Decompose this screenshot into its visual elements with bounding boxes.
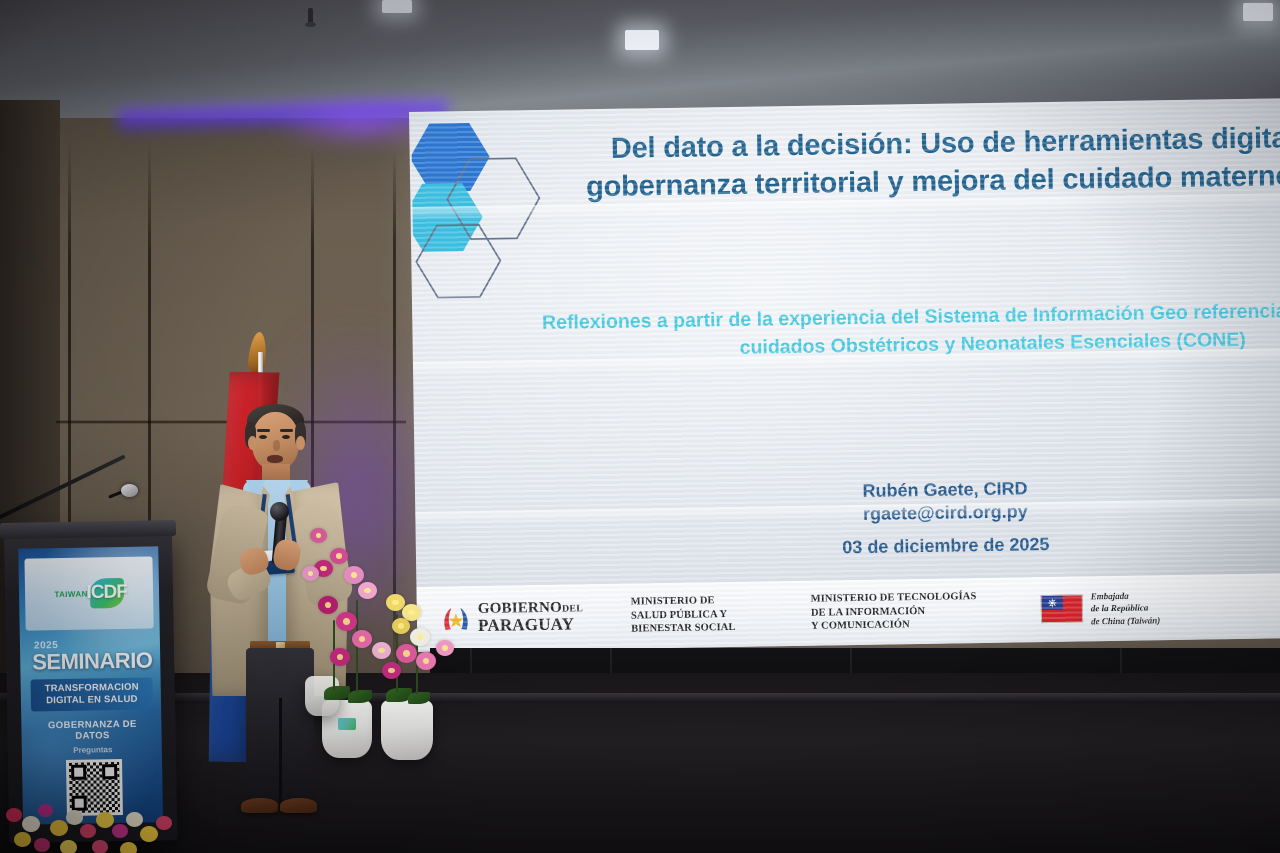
emb-line-2: de la República: [1091, 602, 1160, 615]
slide-date: 03 de diciembre de 2025: [666, 531, 1226, 561]
qr-finder: [71, 765, 86, 780]
ceiling-light: [625, 30, 659, 50]
flower: [80, 824, 96, 838]
ear: [296, 436, 305, 450]
icdf-taiwan-label: TAIWAN: [54, 589, 88, 599]
paraguay-government-emblem-icon: [441, 604, 471, 634]
flower: [96, 812, 114, 828]
orchid-bloom: [330, 548, 348, 564]
gov-line1-small: DEL: [562, 604, 583, 615]
eye: [259, 435, 267, 439]
projection-screen: Del dato a la decisión: Uso de herramien…: [409, 98, 1280, 652]
orchid-bloom: [330, 648, 350, 666]
orchid-leaf: [324, 686, 350, 700]
mitic-line-1: MINISTERIO DE TECNOLOGÍAS: [811, 590, 977, 606]
orchid-bloom: [436, 640, 454, 656]
qr-finder: [102, 764, 117, 779]
flower: [50, 820, 68, 836]
mouth: [267, 455, 283, 463]
flower: [92, 840, 108, 853]
trouser-seam: [279, 698, 282, 806]
flower: [156, 816, 172, 830]
eyebrow: [257, 429, 270, 432]
gobierno-paraguay-text: GOBIERNODEL PARAGUAY: [478, 601, 584, 635]
logo-embajada-taiwan: Embajada de la República de China (Taiwá…: [1041, 589, 1222, 628]
stage-edge: [0, 693, 1280, 703]
slide-author-block: Rubén Gaete, CIRD rgaete@cird.org.py: [665, 474, 1226, 529]
flower: [60, 840, 77, 853]
orchid-bloom: [392, 618, 410, 634]
flower: [126, 812, 143, 827]
orchid-leaf: [348, 690, 372, 703]
slide-title: Del dato a la decisión: Uso de herramien…: [539, 118, 1280, 208]
ceiling-light: [382, 0, 412, 13]
banner-seminar-title: SEMINARIO: [32, 647, 153, 675]
taiwan-flag-icon: [1041, 595, 1083, 624]
ministerio-salud-text: MINISTERIO DE SALUD PÚBLICA Y BIENESTAR …: [631, 594, 736, 636]
conference-photo-scene: Del dato a la decisión: Uso de herramien…: [0, 0, 1280, 853]
emb-line-3: de China (Taiwán): [1091, 614, 1160, 627]
emb-line-1: Embajada: [1091, 590, 1160, 603]
banner-tagline-line2: DIGITAL EN SALUD: [33, 693, 151, 707]
banner-tagline: TRANSFORMACION DIGITAL EN SALUD: [31, 677, 154, 711]
flower: [34, 838, 50, 852]
orchid-bloom: [382, 662, 401, 679]
flower: [14, 832, 31, 847]
flower: [38, 804, 53, 817]
icdf-wordmark: ICDF: [86, 581, 127, 604]
ear: [248, 436, 257, 450]
embajada-taiwan-text: Embajada de la República de China (Taiwá…: [1091, 590, 1161, 627]
mitic-line-3: Y COMUNICACIÓN: [811, 617, 977, 633]
icdf-logo: TAIWAN ICDF: [24, 556, 153, 630]
msp-line-3: BIENESTAR SOCIAL: [631, 621, 736, 636]
pot-label: [338, 718, 356, 730]
orchid-bloom: [336, 612, 357, 631]
flower-pot: [381, 700, 433, 760]
orchid-bloom: [358, 582, 377, 599]
flower: [120, 842, 137, 853]
podium-base-flower-arrangement: [0, 790, 200, 853]
flower: [112, 824, 128, 838]
sprinkler-icon: [308, 8, 313, 24]
orchid-bloom: [352, 630, 372, 648]
banner-theme: GOBERNANZA DE DATOS: [29, 718, 155, 742]
orchid-bloom: [310, 528, 327, 543]
orchid-bloom: [302, 566, 319, 581]
flower: [22, 816, 40, 832]
orchid-bloom: [416, 652, 436, 670]
logo-mitic: MINISTERIO DE TECNOLOGÍAS DE LA INFORMAC…: [811, 589, 1042, 633]
podium-top: [0, 520, 176, 539]
logo-gobierno-paraguay: GOBIERNODEL PARAGUAY: [441, 600, 631, 636]
orchid-leaf: [408, 692, 430, 704]
orchid-bloom: [372, 642, 391, 659]
shoe: [280, 798, 317, 813]
podium-banner: TAIWAN ICDF 2025 SEMINARIO TRANSFORMACIO…: [18, 546, 163, 824]
flower: [140, 826, 158, 842]
orchid-bloom: [410, 628, 430, 646]
flower: [66, 810, 83, 825]
nose: [273, 440, 280, 451]
orchid-bloom: [318, 596, 338, 614]
gov-line2: PARAGUAY: [478, 616, 584, 635]
orchid-bloom: [396, 644, 417, 663]
microphone-head: [270, 502, 289, 521]
flower: [6, 808, 22, 822]
ceiling-light: [1243, 3, 1273, 21]
eyebrow: [280, 429, 293, 432]
eye: [282, 435, 290, 439]
shoe: [241, 798, 278, 813]
mitic-text: MINISTERIO DE TECNOLOGÍAS DE LA INFORMAC…: [811, 590, 977, 633]
logo-ministerio-salud: MINISTERIO DE SALUD PÚBLICA Y BIENESTAR …: [631, 593, 812, 636]
slide-subtitle: Reflexiones a partir de la experiencia d…: [532, 296, 1280, 366]
icdf-leaf-icon: ICDF: [89, 578, 124, 609]
orchid-bloom: [344, 566, 364, 584]
boom-microphone-head: [121, 484, 138, 497]
slide-footer-logo-bar: GOBIERNODEL PARAGUAY MINISTERIO DE SALUD…: [416, 573, 1280, 652]
